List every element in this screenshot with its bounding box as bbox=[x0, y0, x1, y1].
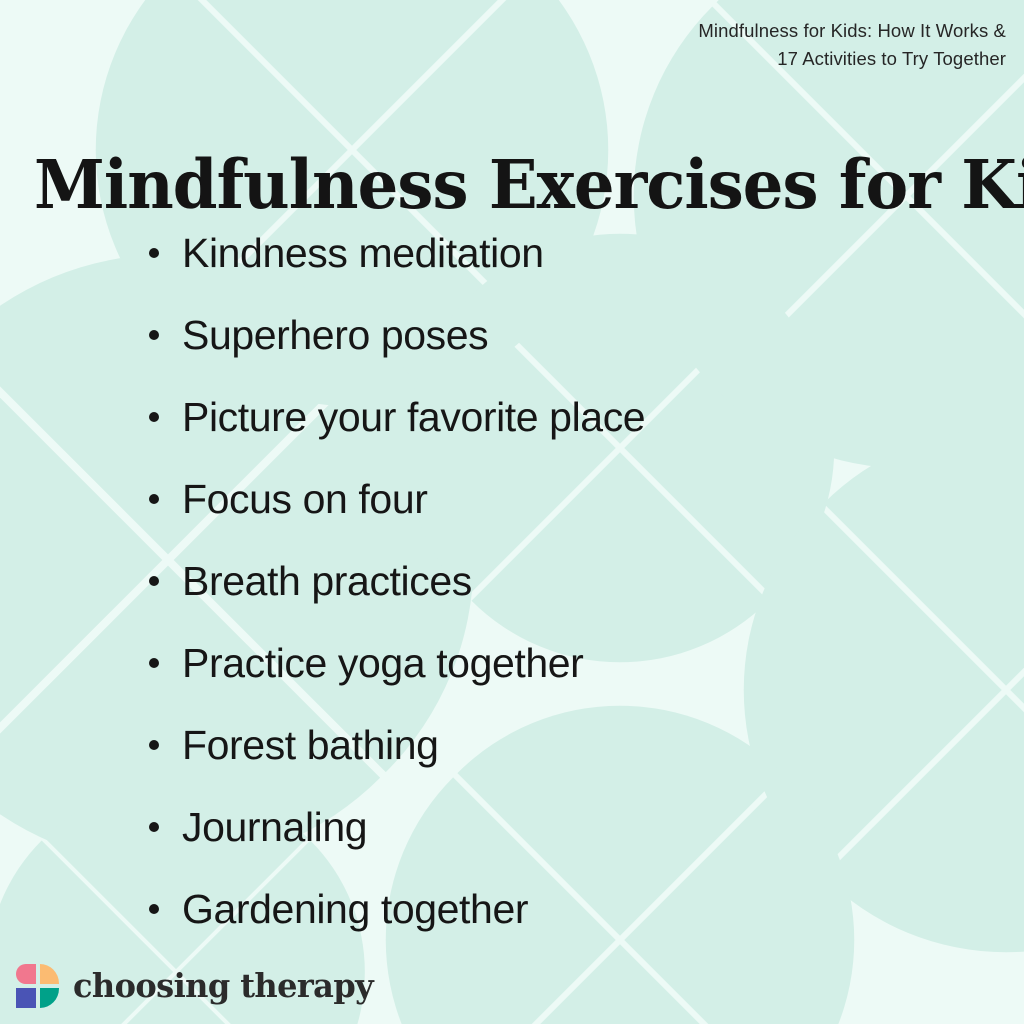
list-item: Gardening together bbox=[140, 868, 984, 950]
bullet-icon bbox=[149, 822, 159, 832]
article-header: Mindfulness for Kids: How It Works & 17 … bbox=[366, 17, 1006, 73]
list-item: Breath practices bbox=[140, 540, 984, 622]
logo-quadrant-indigo-icon bbox=[16, 988, 36, 1008]
exercise-list: Kindness meditation Superhero poses Pict… bbox=[140, 212, 984, 950]
bullet-icon bbox=[149, 658, 159, 668]
bullet-icon bbox=[149, 330, 159, 340]
list-item-label: Superhero poses bbox=[182, 311, 488, 359]
bullet-icon bbox=[149, 904, 159, 914]
list-item-label: Gardening together bbox=[182, 885, 528, 933]
logo-quadrant-teal-icon bbox=[40, 988, 60, 1008]
background-petal bbox=[0, 348, 163, 772]
bullet-icon bbox=[149, 576, 159, 586]
list-item: Kindness meditation bbox=[140, 212, 984, 294]
bullet-icon bbox=[149, 412, 159, 422]
list-item: Journaling bbox=[140, 786, 984, 868]
list-item-label: Focus on four bbox=[182, 475, 428, 523]
list-item-label: Forest bathing bbox=[182, 721, 439, 769]
logo-quadrant-pink-icon bbox=[16, 964, 36, 984]
bullet-icon bbox=[149, 248, 159, 258]
infographic-canvas: Mindfulness for Kids: How It Works & 17 … bbox=[0, 0, 1024, 1024]
logo-wordmark: choosing therapy bbox=[73, 967, 373, 1005]
list-item: Focus on four bbox=[140, 458, 984, 540]
background-petal bbox=[1010, 508, 1024, 873]
article-header-line-2: 17 Activities to Try Together bbox=[366, 45, 1006, 73]
list-item: Superhero poses bbox=[140, 294, 984, 376]
list-item-label: Journaling bbox=[182, 803, 367, 851]
bullet-icon bbox=[149, 740, 159, 750]
list-item: Forest bathing bbox=[140, 704, 984, 786]
choosing-therapy-logo-icon bbox=[16, 964, 59, 1008]
bullet-icon bbox=[149, 494, 159, 504]
list-item: Practice yoga together bbox=[140, 622, 984, 704]
list-item-label: Practice yoga together bbox=[182, 639, 583, 687]
brand-logo: choosing therapy bbox=[16, 964, 382, 1008]
background-petal bbox=[457, 944, 782, 1024]
list-item-label: Kindness meditation bbox=[182, 229, 544, 277]
logo-quadrant-orange-icon bbox=[40, 964, 60, 984]
list-item-label: Breath practices bbox=[182, 557, 472, 605]
list-item-label: Picture your favorite place bbox=[182, 393, 645, 441]
article-header-line-1: Mindfulness for Kids: How It Works & bbox=[366, 17, 1006, 45]
list-item: Picture your favorite place bbox=[140, 376, 984, 458]
